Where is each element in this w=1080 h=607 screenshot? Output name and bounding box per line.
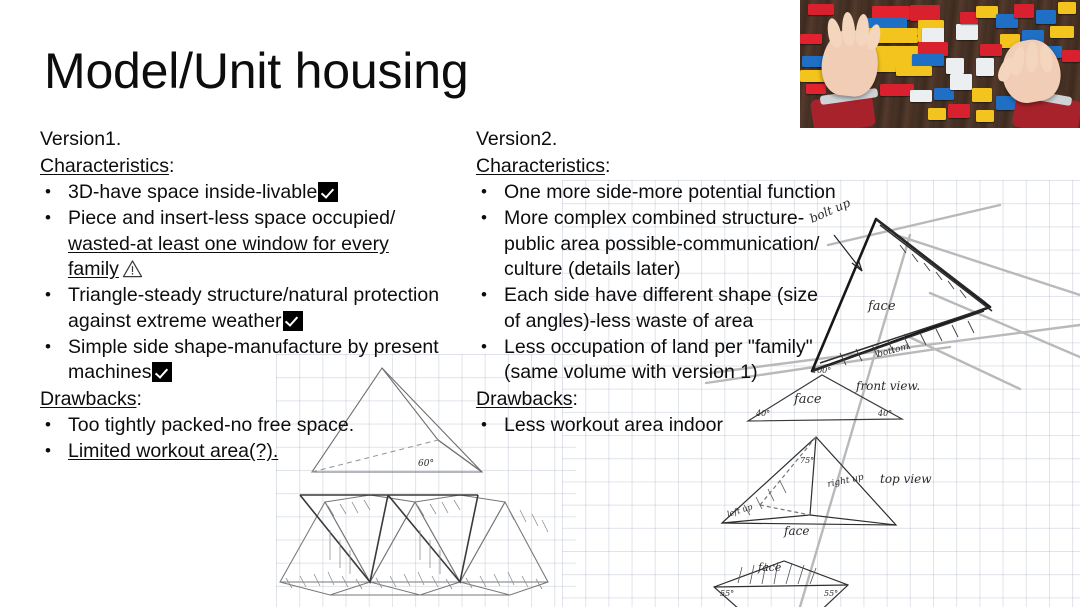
lego-brick [910, 5, 940, 21]
label-right-up: right up [827, 472, 865, 489]
bullet-text: Limited workout area(?). [68, 440, 278, 462]
lego-brick [950, 74, 972, 90]
list-item: Each side have different shape (size of … [476, 283, 836, 334]
right-drawbacks-heading: Drawbacks: [476, 386, 836, 413]
lego-brick [1062, 50, 1080, 62]
list-item: More complex combined structure-public a… [476, 206, 836, 283]
lego-brick [808, 4, 834, 15]
bullet-text: Triangle-steady structure/natural protec… [68, 284, 439, 332]
bottom-face-label: face [757, 561, 782, 574]
left-drawbacks-heading: Drawbacks: [40, 386, 440, 413]
version1-label: Version1. [40, 126, 440, 153]
lego-brick [976, 58, 994, 76]
bullet-text-underlined: wasted-at least one window for every fam… [68, 233, 389, 281]
bullet-text: Piece and insert-less space occupied/ [68, 207, 395, 229]
label-face-main: face [867, 299, 896, 314]
lego-bricks-photo [800, 0, 1080, 128]
label-left-up: left up [726, 502, 754, 519]
left-drawbacks-heading-text: Drawbacks [40, 388, 136, 410]
lego-brick [1050, 26, 1074, 38]
check-icon [318, 182, 338, 202]
front-right-angle: 40° [877, 409, 892, 418]
slide-canvas: Model/Unit housing [0, 0, 1080, 607]
bullet-text: One more side-more potential function [504, 181, 836, 203]
lego-brick [928, 108, 946, 120]
left-drawbacks-colon: : [136, 388, 141, 410]
right-characteristics-heading: Characteristics: [476, 153, 836, 180]
lego-brick [910, 90, 932, 102]
lego-brick [948, 104, 970, 118]
list-item: Simple side shape-manufacture by present… [40, 335, 440, 386]
bullet-text: Simple side shape-manufacture by present… [68, 336, 439, 384]
left-characteristics-heading: Characteristics: [40, 153, 440, 180]
list-item: One more side-more potential function [476, 180, 836, 206]
list-item: Less occupation of land per "family"(sam… [476, 335, 836, 386]
right-characteristics-colon: : [605, 155, 610, 177]
warning-icon [122, 259, 143, 278]
lego-brick [956, 24, 978, 40]
lego-brick [880, 84, 914, 96]
bullet-text: More complex combined structure-public a… [504, 207, 819, 280]
right-drawbacks-heading-text: Drawbacks [476, 388, 572, 410]
list-item: Triangle-steady structure/natural protec… [40, 283, 440, 334]
left-characteristics-list: 3D-have space inside-livable Piece and i… [40, 180, 440, 386]
lego-brick [972, 88, 992, 102]
left-drawbacks-list: Too tightly packed-no free space. Limite… [40, 413, 440, 465]
right-text-column: Version2. Characteristics: One more side… [476, 126, 836, 439]
top-view-label: top view [880, 472, 932, 486]
lego-brick [1014, 4, 1034, 18]
bullet-text: Too tightly packed-no free space. [68, 414, 354, 436]
left-text-column: Version1. Characteristics: 3D-have space… [40, 126, 440, 465]
check-icon [283, 311, 303, 331]
lego-brick [976, 110, 994, 122]
check-icon [152, 362, 172, 382]
list-item: 3D-have space inside-livable [40, 180, 440, 206]
list-item: Too tightly packed-no free space. [40, 413, 440, 439]
page-title: Model/Unit housing [44, 42, 468, 100]
right-drawbacks-list: Less workout area indoor [476, 413, 836, 439]
lego-brick [980, 44, 1002, 56]
top-face-label: face [783, 524, 809, 538]
version2-label: Version2. [476, 126, 836, 153]
bullet-text: 3D-have space inside-livable [68, 181, 317, 203]
right-characteristics-list: One more side-more potential function Mo… [476, 180, 836, 386]
list-item: Piece and insert-less space occupied/ wa… [40, 206, 440, 283]
label-bottom-main: bottom [876, 342, 910, 360]
bullet-text: Each side have different shape (size of … [504, 284, 818, 332]
list-item: Limited workout area(?). [40, 439, 440, 465]
lego-brick [1058, 2, 1076, 14]
lego-brick [946, 58, 964, 74]
right-characteristics-heading-text: Characteristics [476, 155, 605, 177]
bottom-left-angle: 55° [720, 589, 734, 598]
lego-brick [800, 34, 822, 44]
lego-brick [912, 54, 944, 66]
right-drawbacks-colon: : [572, 388, 577, 410]
left-characteristics-heading-text: Characteristics [40, 155, 169, 177]
bullet-text: Less workout area indoor [504, 414, 723, 436]
lego-brick [976, 6, 998, 18]
front-view-label: front view. [855, 379, 920, 393]
bottom-right-angle: 55° [824, 589, 838, 598]
bullet-text: Less occupation of land per "family"(sam… [504, 336, 813, 384]
left-characteristics-colon: : [169, 155, 174, 177]
lego-brick [896, 66, 932, 76]
lego-brick [806, 84, 826, 94]
top-view-angle-apex: 75° [800, 456, 814, 465]
lego-brick [1036, 10, 1056, 24]
list-item: Less workout area indoor [476, 413, 836, 439]
